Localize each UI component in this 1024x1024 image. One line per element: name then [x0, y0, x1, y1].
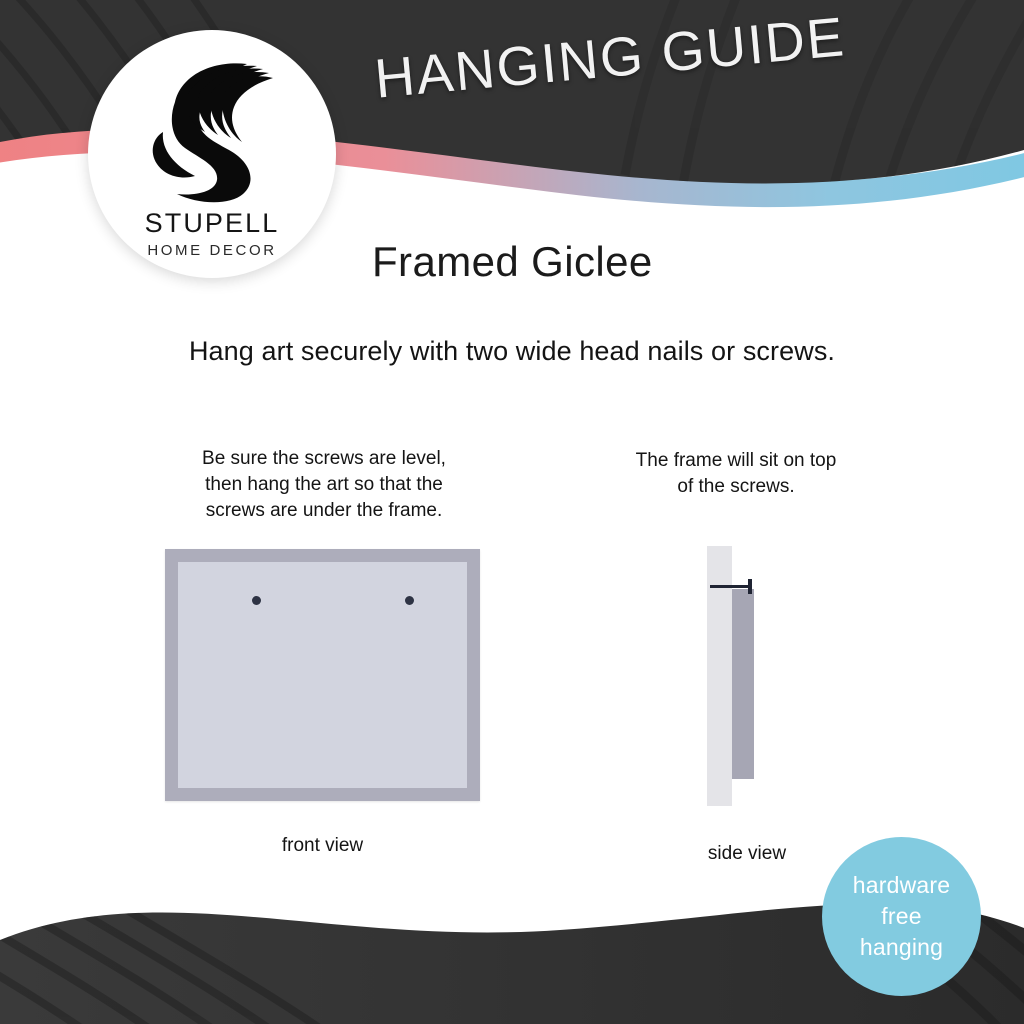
side-view-caption-line-2: of the screws. — [592, 474, 880, 500]
side-view-caption-line-1: The frame will sit on top — [592, 448, 880, 474]
side-view-frame-illustration — [707, 546, 787, 806]
side-view-caption: The frame will sit on top of the screws. — [592, 448, 880, 500]
screw-shaft-icon — [710, 585, 750, 588]
front-view-label: front view — [165, 835, 480, 857]
badge-line-1: hardware — [853, 870, 951, 901]
page-title: HANGING GUIDE — [372, 4, 848, 111]
front-view-caption-line-3: screws are under the frame. — [166, 498, 482, 524]
side-view-label: side view — [658, 843, 836, 865]
front-view-frame-illustration — [165, 549, 480, 801]
front-view-caption-line-2: then hang the art so that the — [166, 472, 482, 498]
screw-head-icon — [748, 579, 752, 594]
badge-line-2: free — [881, 901, 921, 932]
hardware-free-hanging-badge: hardware free hanging — [822, 837, 981, 996]
front-view-caption-line-1: Be sure the screws are level, — [166, 446, 482, 472]
front-view-caption: Be sure the screws are level, then hang … — [166, 446, 482, 524]
lead-instruction-text: Hang art securely with two wide head nai… — [0, 336, 1024, 367]
screw-dot-right-icon — [405, 596, 414, 605]
front-view-mat-area — [178, 562, 467, 788]
brand-tagline: HOME DECOR — [88, 242, 336, 259]
brand-logo-badge: STUPELL HOME DECOR — [88, 30, 336, 278]
stupell-swirl-s-logo-icon — [147, 54, 277, 204]
badge-line-3: hanging — [860, 932, 943, 963]
screw-dot-left-icon — [252, 596, 261, 605]
product-type-label: Framed Giclee — [372, 238, 653, 286]
hanging-guide-page: STUPELL HOME DECOR HANGING GUIDE Framed … — [0, 0, 1024, 1024]
brand-name: STUPELL — [88, 208, 336, 239]
side-view-frame — [732, 589, 754, 779]
